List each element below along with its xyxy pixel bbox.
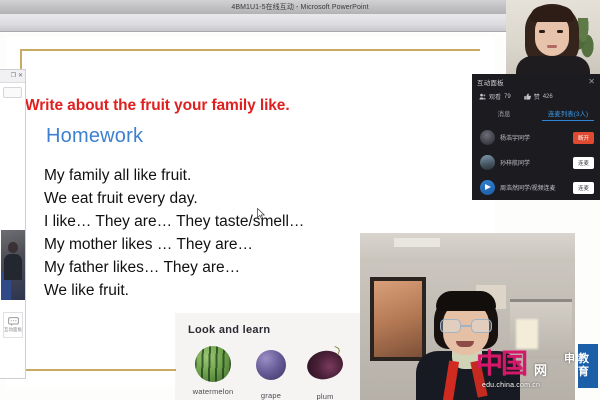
dock-input-field[interactable] [3,87,22,98]
window-title: 4BM1U1-5在线互动 - Microsoft PowerPoint [231,2,368,12]
viewers-icon [479,93,486,100]
avatar [480,130,495,145]
participant-action-button[interactable]: 断开 [573,132,594,144]
fruit-label: watermelon [184,387,242,396]
left-dock-panel: ❐ ✕ 互动面板 [0,69,26,379]
avatar [480,180,495,195]
restore-icon[interactable]: ❐ [11,73,16,79]
dock-video-thumbnail[interactable] [1,230,25,300]
stat-viewers: 观看 79 [479,92,511,101]
teacher-webcam-tile[interactable] [506,0,600,78]
participant-name: 周浩然同学/视频连麦 [500,183,568,192]
stat-likes: 赞 426 [524,92,553,101]
close-icon[interactable]: ✕ [588,78,595,86]
watermelon-icon [195,346,231,382]
fruit-label: grape [242,391,300,400]
slide-line: My family all like fruit. [44,164,484,187]
watermark-shen: 申 [564,350,575,366]
tab-messages[interactable]: 消息 [472,104,536,121]
watermark: 中国 网 申 教育 edu.china.com.cn [476,344,600,396]
participant-row[interactable]: 孙梓航同学 连麦 [472,150,600,175]
watermark-url: edu.china.com.cn [482,382,540,389]
left-dock-titlebar: ❐ ✕ [0,70,25,83]
interaction-panel-tabs: 消息 连麦列表(3人) [472,104,600,121]
participant-row[interactable]: 周浩然同学/视频连麦 连麦 [472,175,600,200]
slide-border-top [20,49,480,51]
grape-icon [253,350,289,386]
watermark-net: 网 [534,360,547,379]
interaction-panel-header: 互动面板 ✕ [472,74,600,89]
fruit-label: plum [296,392,354,400]
participant-name: 杨浩宇同学 [500,133,568,142]
dock-chat-label: 互动面板 [4,327,22,333]
wall-picture [370,277,426,361]
interaction-panel-stats: 观看 79 赞 426 [472,89,600,104]
avatar [480,155,495,170]
slide-heading: Write about the fruit your family like. [25,97,290,115]
stat-likes-value: 426 [543,94,553,100]
participant-row[interactable]: 杨浩宇同学 断开 [472,125,600,150]
look-and-learn-card: Look and learn watermelon grape [176,314,371,400]
slide-line: I like… They are… They taste/smell… [44,210,484,233]
glasses-icon [440,319,492,333]
tab-mic-list[interactable]: 连麦列表(3人) [536,104,600,121]
interaction-panel[interactable]: 互动面板 ✕ 观看 79 赞 426 消息 连麦列表(3人) [472,74,600,200]
interaction-panel-title: 互动面板 [477,77,504,87]
like-icon [524,93,531,100]
participant-name: 孙梓航同学 [500,158,568,167]
plum-icon [307,351,343,387]
participant-action-button[interactable]: 连麦 [573,157,594,169]
fruit-item-plum: plum [296,346,354,400]
slide-line: We eat fruit every day. [44,187,484,210]
dock-chat-button[interactable]: 互动面板 [3,312,23,338]
close-icon[interactable]: ✕ [18,73,23,79]
watermark-badge: 教育 [578,344,598,388]
chat-bubble-icon [8,317,19,326]
fruit-item-watermelon: watermelon [184,346,242,396]
fruit-item-grape: grape [242,346,300,400]
look-and-learn-title: Look and learn [188,324,270,336]
stat-viewers-value: 79 [504,94,511,100]
participant-list[interactable]: 杨浩宇同学 断开 孙梓航同学 连麦 周浩然同学/视频连麦 连麦 [472,122,600,200]
stat-likes-label: 赞 [534,92,540,101]
slide-subheading: Homework [46,125,143,148]
stat-viewers-label: 观看 [489,92,501,101]
participant-action-button[interactable]: 连麦 [573,182,594,194]
